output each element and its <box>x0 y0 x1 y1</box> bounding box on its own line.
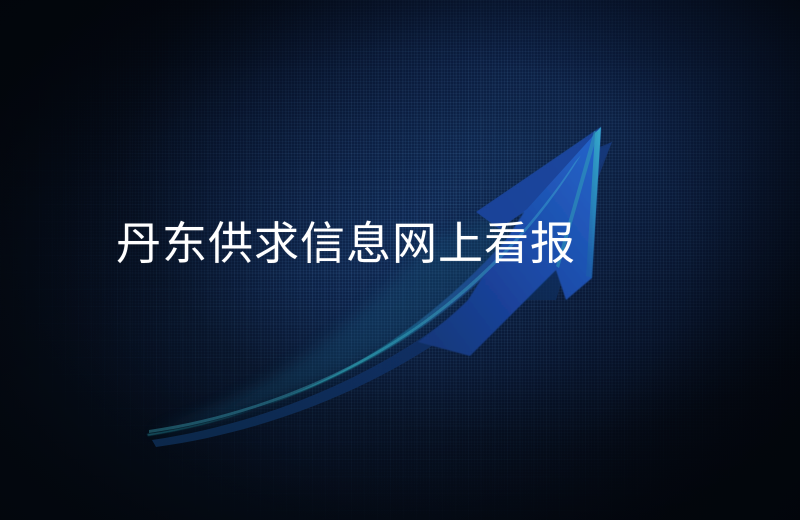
page-title: 丹东供求信息网上看报 <box>116 216 576 272</box>
banner-canvas: 丹东供求信息网上看报 <box>0 0 800 520</box>
